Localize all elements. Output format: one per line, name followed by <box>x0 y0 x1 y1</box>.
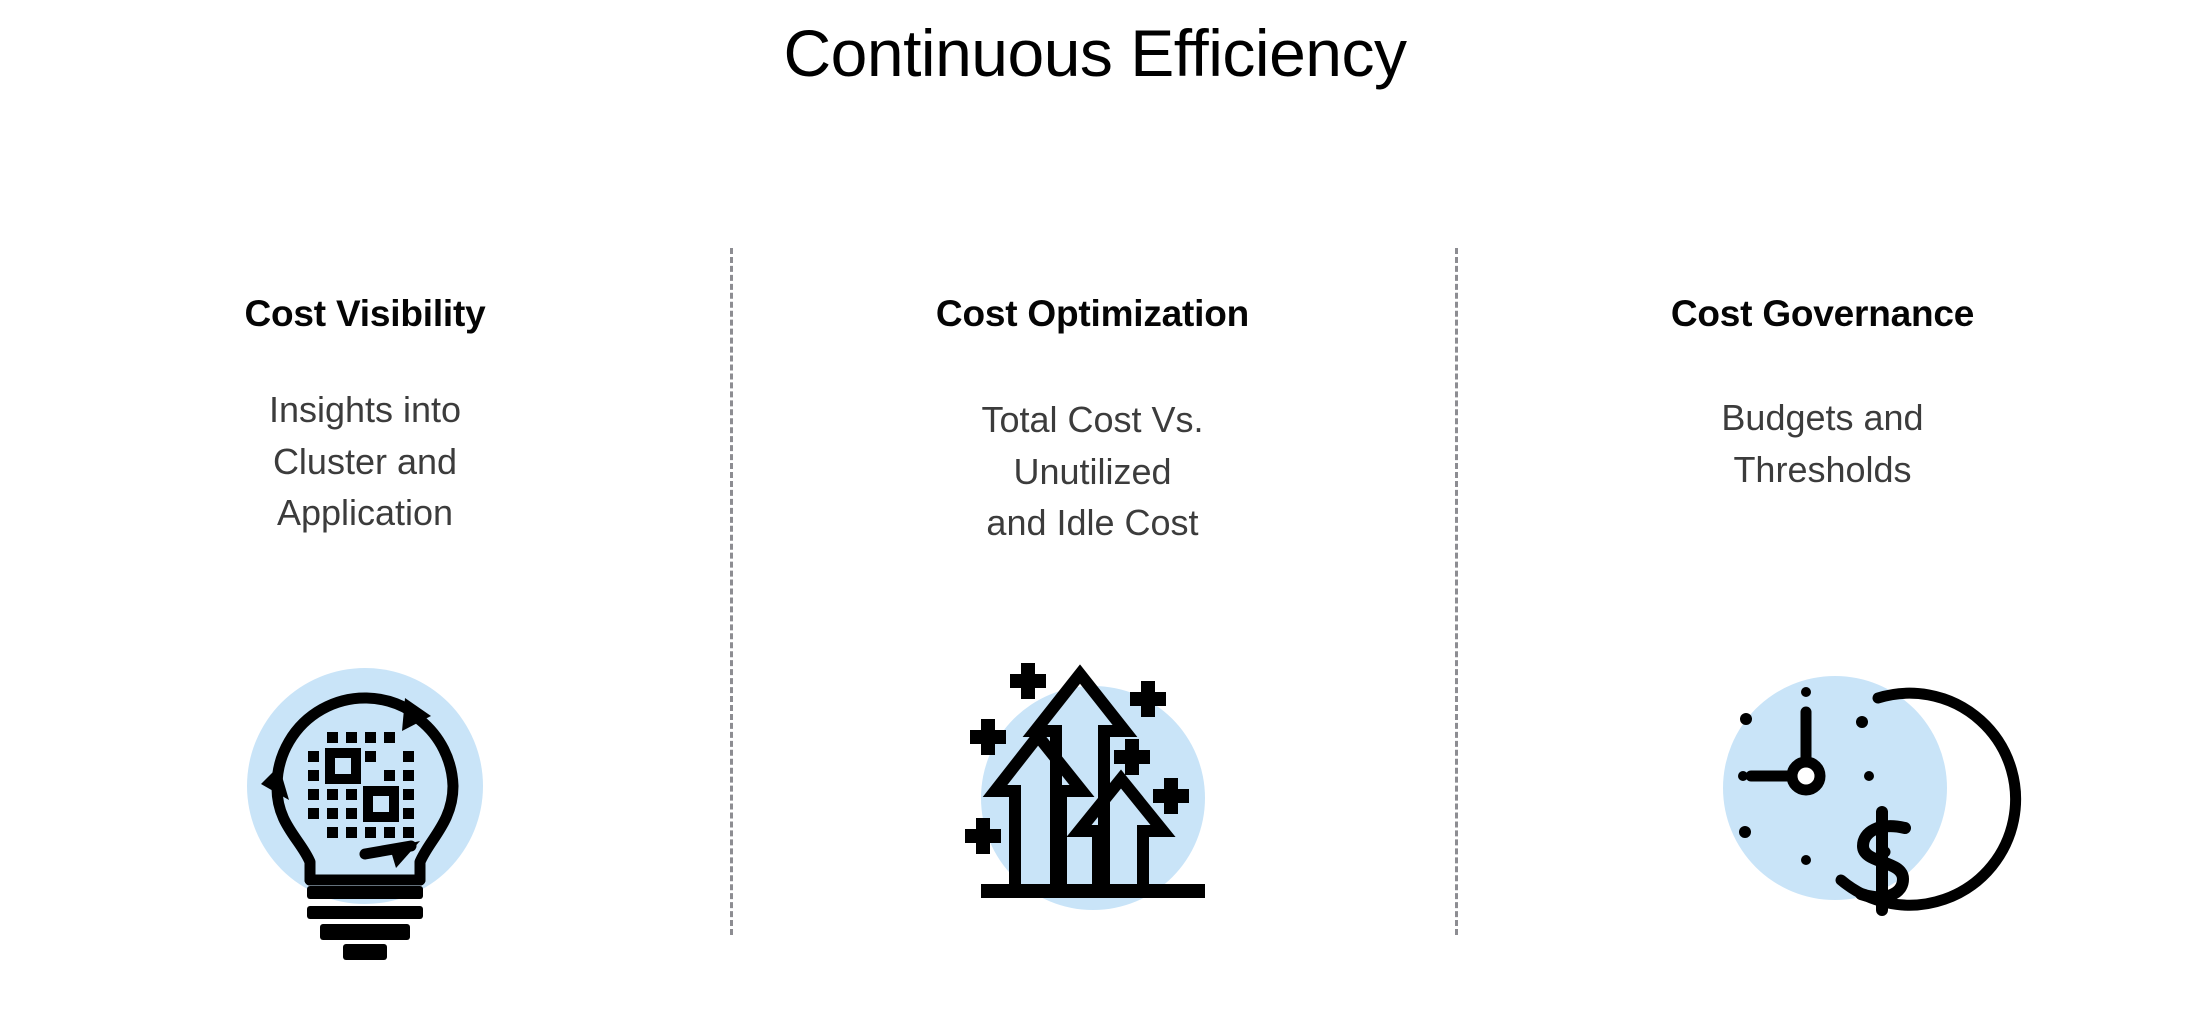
body-line: and Idle Cost <box>981 497 1203 548</box>
column-divider <box>730 248 733 935</box>
body-line: Unutilized <box>981 446 1203 497</box>
column-heading-cost-optimization: Cost Optimization <box>936 292 1249 336</box>
column-body-cost-optimization: Total Cost Vs. Unutilized and Idle Cost <box>981 394 1203 547</box>
body-line: Total Cost Vs. <box>981 394 1203 445</box>
column-body-cost-visibility: Insights into Cluster and Application <box>269 384 461 537</box>
column-cost-visibility: Cost Visibility Insights into Cluster an… <box>0 248 730 948</box>
column-heading-cost-visibility: Cost Visibility <box>245 292 486 336</box>
column-heading-cost-governance: Cost Governance <box>1671 292 1974 336</box>
rising-arrows-icon <box>943 636 1243 936</box>
body-line: Thresholds <box>1721 444 1923 495</box>
lightbulb-data-cycle-icon <box>215 636 515 936</box>
page-title: Continuous Efficiency <box>0 16 2190 92</box>
column-divider <box>1455 248 1458 935</box>
body-line: Application <box>269 487 461 538</box>
body-line: Cluster and <box>269 436 461 487</box>
clock-dollar-icon <box>1673 636 1973 936</box>
feature-columns: Cost Visibility Insights into Cluster an… <box>0 248 2190 948</box>
column-cost-optimization: Cost Optimization Total Cost Vs. Unutili… <box>730 248 1455 948</box>
column-body-cost-governance: Budgets and Thresholds <box>1721 392 1923 494</box>
column-cost-governance: Cost Governance Budgets and Thresholds <box>1455 248 2190 948</box>
body-line: Insights into <box>269 384 461 435</box>
body-line: Budgets and <box>1721 392 1923 443</box>
